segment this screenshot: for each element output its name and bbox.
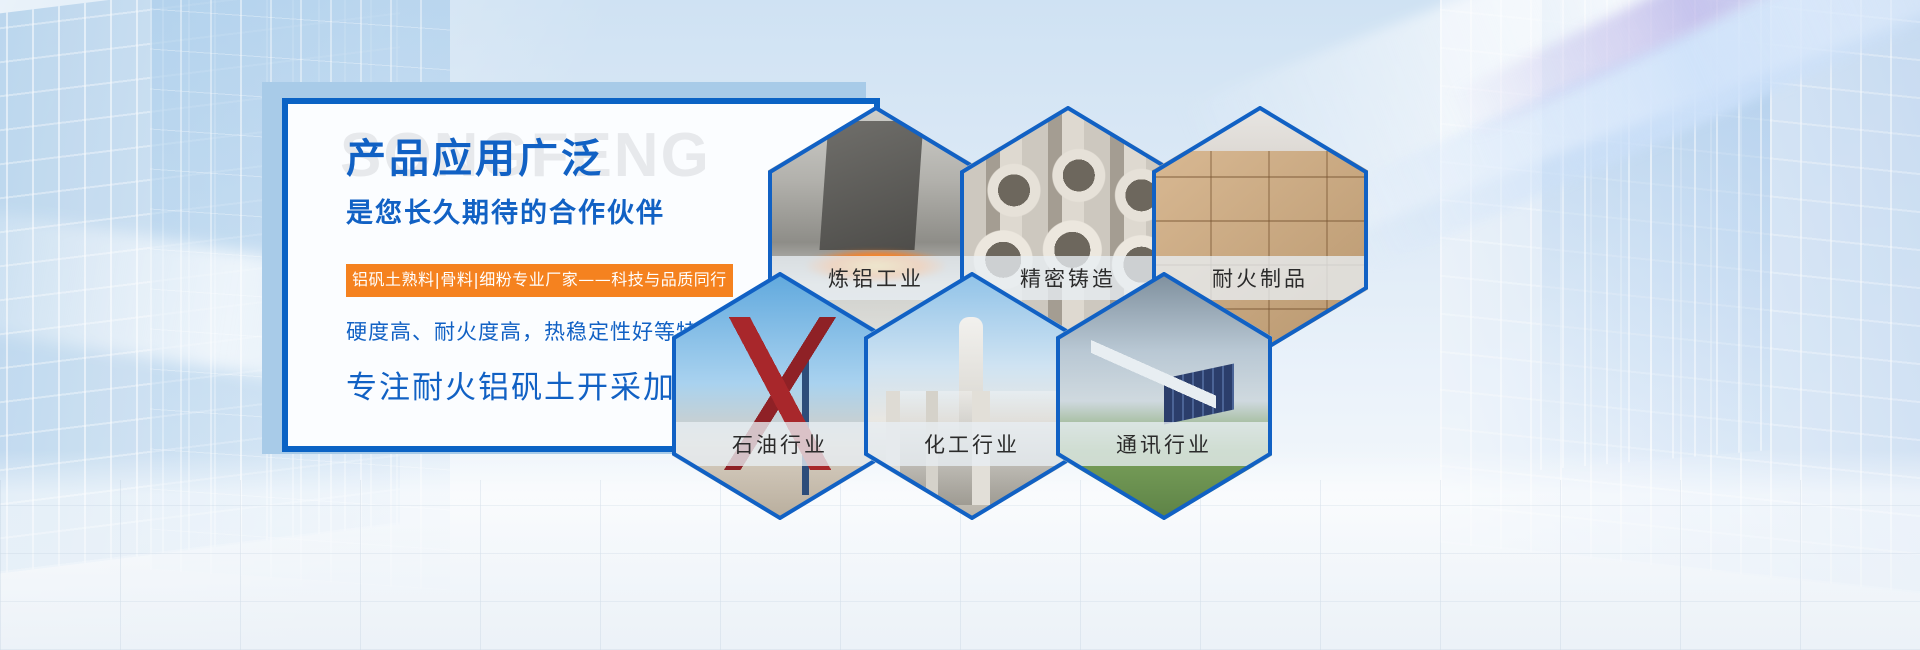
hex-caption-band: 化工行业 (864, 422, 1080, 466)
focus-line: 专注耐火铝矾土开采加工 (346, 362, 709, 407)
banner-stage: SONGFENG 产品应用广泛 是您长久期待的合作伙伴 铝矾土熟料|骨料|细粉专… (0, 0, 1920, 650)
hex-caption-band: 石油行业 (672, 422, 888, 466)
hex-label: 通讯行业 (1116, 429, 1212, 459)
hexagon-gallery: 炼铝工业 精密铸造 耐火制品 石油行业 (660, 70, 1400, 550)
hex-label: 石油行业 (732, 429, 828, 459)
hex-label: 化工行业 (924, 429, 1020, 459)
hex-label: 耐火制品 (1212, 263, 1308, 293)
hex-label: 精密铸造 (1020, 263, 1116, 293)
hex-caption-band: 通讯行业 (1056, 422, 1272, 466)
hex-label: 炼铝工业 (828, 263, 924, 293)
glass-tower-right-secondary (1540, 0, 1770, 470)
